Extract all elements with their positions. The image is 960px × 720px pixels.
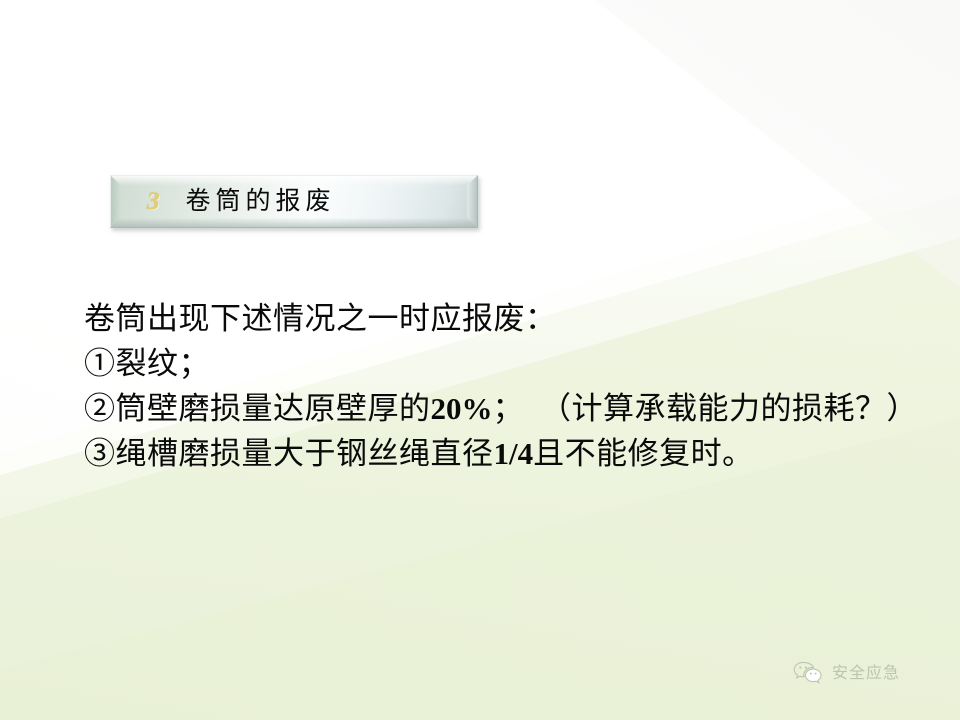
banner-content: 3 卷筒的报废 bbox=[121, 185, 467, 218]
banner-bevel-top bbox=[111, 176, 477, 185]
channel-watermark: 安全应急 bbox=[793, 661, 900, 687]
body-line-item-2: ②筒壁磨损量达原壁厚的20%；（计算承载能力的损耗？） bbox=[84, 386, 944, 431]
body-line-item-2-emphasis: 20% bbox=[431, 391, 493, 426]
body-line-item-2-prefix: ②筒壁磨损量达原壁厚的 bbox=[84, 391, 431, 426]
body-line-item-1: ①裂纹； bbox=[84, 341, 944, 386]
body-line-item-3-suffix: 且不能修复时。 bbox=[533, 436, 754, 471]
body-line-item-2-suffix: ； bbox=[493, 391, 525, 426]
banner-bevel-bottom bbox=[111, 218, 477, 227]
body-line-item-3: ③绳槽磨损量大于钢丝绳直径1/4且不能修复时。 bbox=[84, 431, 944, 476]
watermark-label: 安全应急 bbox=[832, 666, 900, 682]
banner-bevel-left bbox=[111, 176, 121, 227]
banner-bevel-right bbox=[467, 176, 477, 227]
body-line-intro-text: 卷筒出现下述情况之一时应报废： bbox=[84, 301, 557, 336]
body-line-item-2-note: （计算承载能力的损耗？） bbox=[540, 391, 918, 426]
slide-canvas: 3 卷筒的报废 卷筒出现下述情况之一时应报废： ①裂纹； ②筒壁磨损量达原壁厚的… bbox=[0, 0, 960, 720]
banner-number: 3 bbox=[147, 189, 160, 214]
body-line-intro: 卷筒出现下述情况之一时应报废： bbox=[84, 296, 944, 341]
body-line-item-1-text: ①裂纹； bbox=[84, 346, 210, 381]
body-line-item-3-prefix: ③绳槽磨损量大于钢丝绳直径 bbox=[84, 436, 494, 471]
banner-title: 卷筒的报废 bbox=[186, 189, 336, 214]
body-text-block: 卷筒出现下述情况之一时应报废： ①裂纹； ②筒壁磨损量达原壁厚的20%；（计算承… bbox=[84, 296, 944, 476]
wechat-logo-icon bbox=[793, 661, 823, 687]
body-line-item-3-emphasis: 1/4 bbox=[494, 436, 534, 471]
section-title-banner: 3 卷筒的报废 bbox=[110, 175, 478, 228]
